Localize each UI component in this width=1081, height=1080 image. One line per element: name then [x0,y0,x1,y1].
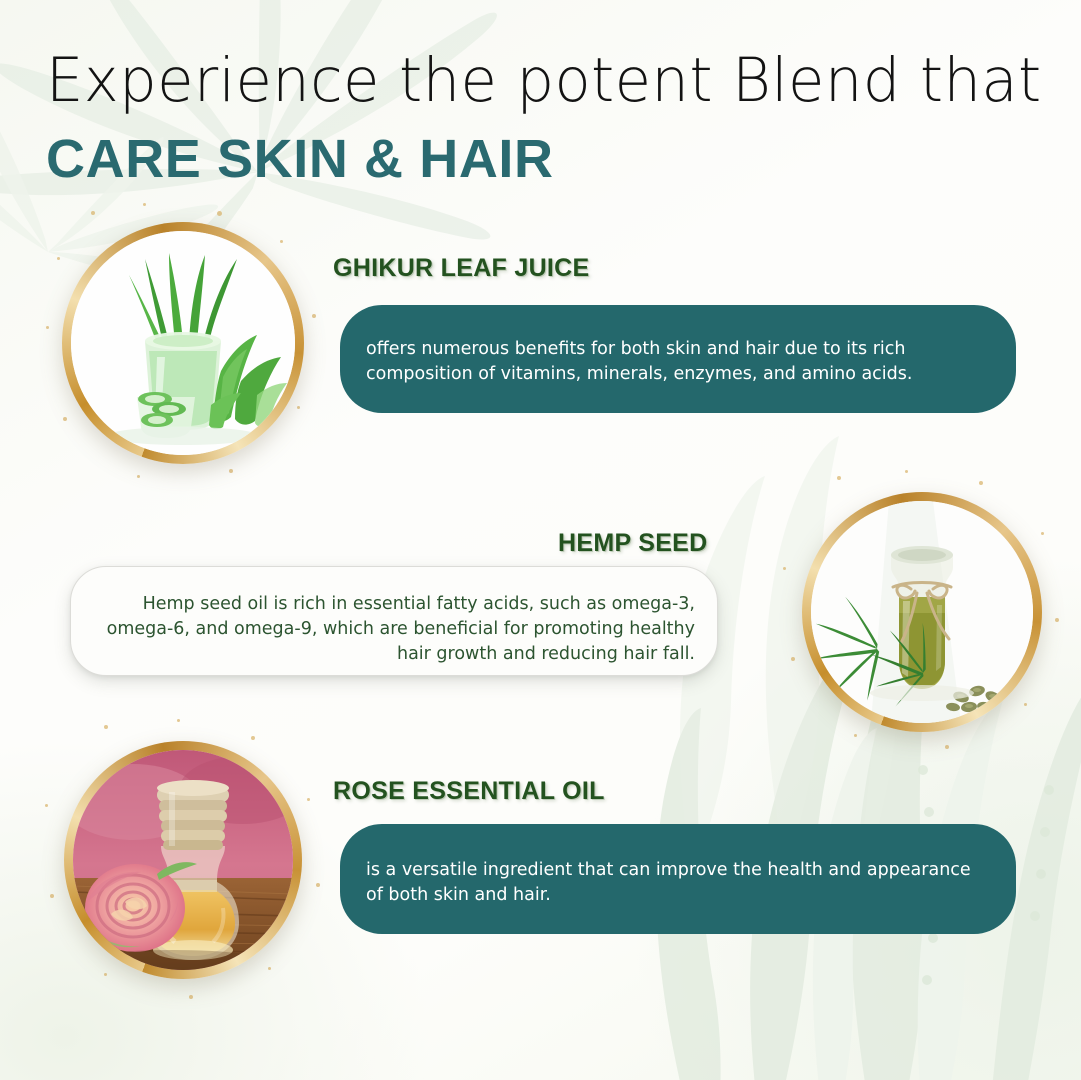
section-title-hemp-seed: HEMP SEED [558,529,708,558]
section-card-ghikur-leaf-juice: offers numerous benefits for both skin a… [340,305,1016,413]
section-card-hemp-seed: Hemp seed oil is rich in essential fatty… [70,566,718,676]
hemp-seed-medallion [802,492,1042,732]
poster-headline: Experience the potent Blend that CARE SK… [46,46,1036,190]
rose-essential-oil-bottle-image [73,750,293,970]
hemp-seed-oil-jar-image [811,501,1033,723]
infographic-poster: Experience the potent Blend that CARE SK… [0,0,1081,1080]
headline-line-2: CARE SKIN & HAIR [46,128,1036,190]
rose-essential-oil-medallion [64,741,302,979]
section-body-hemp-seed: Hemp seed oil is rich in essential fatty… [93,592,695,667]
headline-line-1: Experience the potent Blend that [46,46,1006,116]
aloe-vera-gel-glass-image [71,231,295,455]
section-body-rose-essential-oil: is a versatile ingredient that can impro… [366,858,988,908]
ghikur-leaf-juice-medallion [62,222,304,464]
section-body-ghikur-leaf-juice: offers numerous benefits for both skin a… [366,337,988,387]
section-title-rose-essential-oil: ROSE ESSENTIAL OIL [333,777,605,806]
section-card-rose-essential-oil: is a versatile ingredient that can impro… [340,824,1016,934]
section-title-ghikur-leaf-juice: GHIKUR LEAF JUICE [333,254,590,283]
